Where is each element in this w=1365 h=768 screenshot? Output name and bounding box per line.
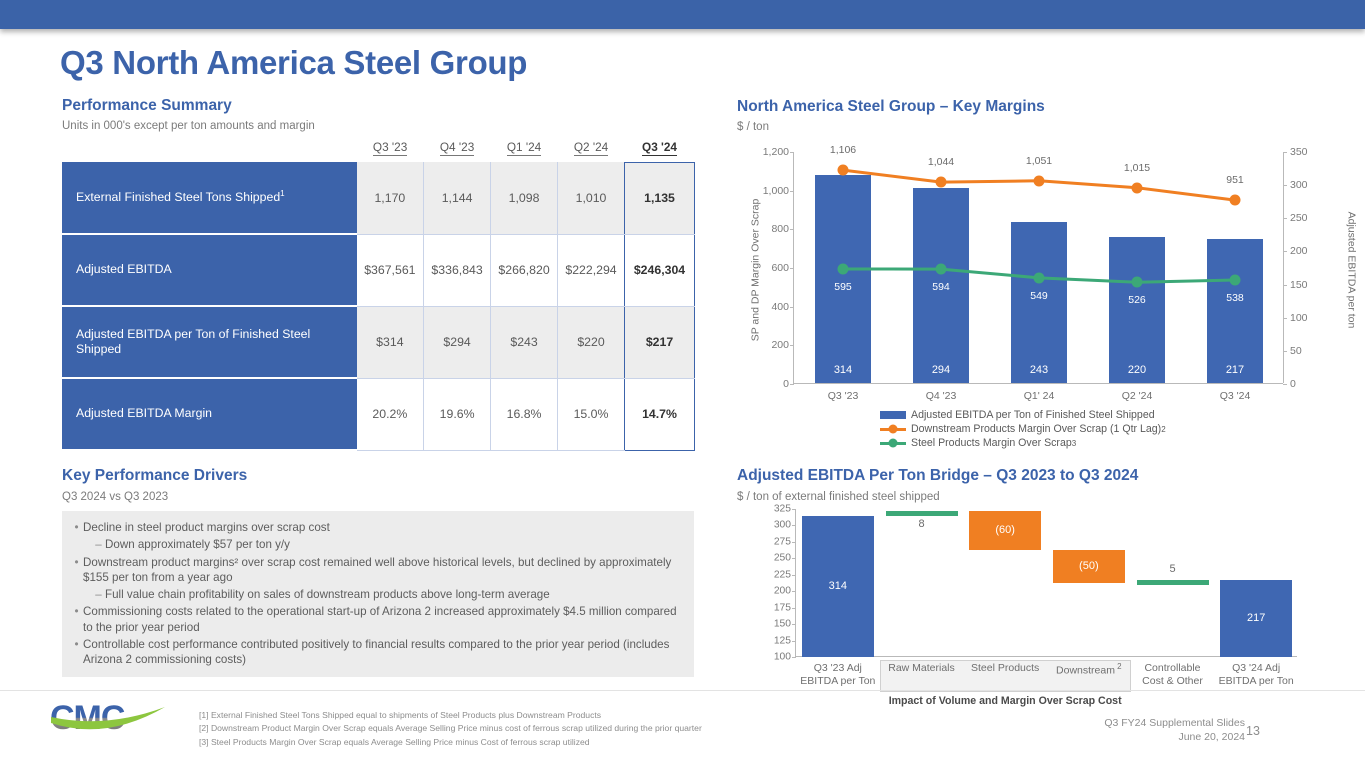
- table-cell: 16.8%: [491, 378, 558, 450]
- bullet-item: –Full value chain profitability on sales…: [70, 587, 682, 602]
- dash-marker-icon: –: [92, 537, 105, 552]
- legend-label: Steel Products Margin Over Scrap: [911, 437, 1072, 449]
- tick-mark: [792, 558, 796, 559]
- y-axis-tick-right: 50: [1290, 345, 1302, 357]
- bullet-item: •Downstream product margins² over scrap …: [70, 555, 682, 586]
- column-header-2: Q4 '23: [424, 138, 491, 162]
- key-performance-drivers-list: •Decline in steel product margins over s…: [62, 511, 694, 677]
- bullet-text: Full value chain profitability on sales …: [105, 587, 550, 602]
- table-cell: $217: [625, 306, 695, 378]
- category-line-2: Cost & Other: [1142, 675, 1203, 688]
- data-point-label: 1,044: [928, 156, 954, 168]
- footnotes: [1] External Finished Steel Tons Shipped…: [199, 709, 702, 749]
- x-axis-category-label: Raw Materials: [888, 662, 955, 675]
- footer-info: Q3 FY24 Supplemental Slides June 20, 202…: [1035, 716, 1245, 744]
- table-cell: $246,304: [625, 234, 695, 306]
- y-axis-tick-right: 100: [1290, 312, 1308, 324]
- data-point-label: 951: [1226, 174, 1244, 186]
- table-cell: $243: [491, 306, 558, 378]
- x-axis-category-label: ControllableCost & Other: [1142, 662, 1203, 688]
- data-point-marker: [838, 165, 849, 176]
- x-axis-category-label: Q3 '24: [1220, 390, 1251, 402]
- y-axis-tick: 150: [774, 619, 791, 630]
- data-point-label: 526: [1128, 294, 1146, 306]
- bullet-marker-icon: •: [70, 637, 83, 668]
- waterfall-value-label: 217: [1211, 612, 1301, 624]
- data-point-label: 1,106: [830, 144, 856, 156]
- footer-date: June 20, 2024: [1035, 730, 1245, 744]
- key-performance-drivers-subheading: Q3 2024 vs Q3 2023: [62, 491, 168, 503]
- key-margins-y-axis-label-right: Adjusted EBITDA per ton: [1344, 152, 1358, 387]
- column-header-4: Q2 '24: [558, 138, 625, 162]
- page-number: 13: [1246, 724, 1260, 738]
- category-line-1: Q3 '23 Adj: [800, 662, 875, 675]
- bridge-plot-area: 100125150175200225250275300325314Q3 '23 …: [795, 509, 1297, 657]
- table-cell: 1,170: [357, 162, 424, 234]
- bullet-text: Decline in steel product margins over sc…: [83, 520, 330, 535]
- waterfall-value-label: 8: [877, 518, 967, 530]
- legend-line-icon: [880, 438, 906, 449]
- category-line-1: Controllable: [1142, 662, 1203, 675]
- bullet-item: •Commissioning costs related to the oper…: [70, 604, 682, 635]
- footnote-line: [1] External Finished Steel Tons Shipped…: [199, 709, 702, 722]
- table-cell: 19.6%: [424, 378, 491, 450]
- data-point-marker: [1230, 274, 1241, 285]
- category-line-1: Downstream 2: [1056, 662, 1122, 678]
- legend-item: Downstream Products Margin Over Scrap (1…: [880, 423, 1166, 435]
- column-header-3: Q1 '24: [491, 138, 558, 162]
- data-point-marker: [1230, 195, 1241, 206]
- line-series-layer: [794, 152, 1284, 384]
- footnote-marker: 2: [1115, 662, 1122, 671]
- bullet-marker-icon: •: [70, 520, 83, 535]
- table-cell: 1,098: [491, 162, 558, 234]
- legend-swatch-icon: [880, 411, 906, 419]
- data-point-label: 1,015: [1124, 162, 1150, 174]
- legend-label: Downstream Products Margin Over Scrap (1…: [911, 423, 1161, 435]
- tick-mark: [792, 525, 796, 526]
- waterfall-value-label: (60): [960, 524, 1050, 536]
- key-margins-subtitle: $ / ton: [737, 121, 769, 133]
- tick-mark: [792, 542, 796, 543]
- table-cell: 15.0%: [558, 378, 625, 450]
- key-performance-drivers-heading: Key Performance Drivers: [62, 467, 247, 485]
- data-point-marker: [936, 177, 947, 188]
- performance-summary-subheading: Units in 000's except per ton amounts an…: [62, 120, 315, 132]
- y-axis-tick: 125: [774, 635, 791, 646]
- tick-mark: [792, 657, 796, 658]
- bullet-marker-icon: •: [70, 555, 83, 586]
- data-point-label: 594: [932, 281, 950, 293]
- y-axis-tick-right: 150: [1290, 279, 1308, 291]
- tick-mark: [792, 608, 796, 609]
- table-cell: 1,010: [558, 162, 625, 234]
- footnote-marker: 2: [1161, 425, 1165, 434]
- tick-mark: [792, 641, 796, 642]
- tick-mark: [792, 624, 796, 625]
- table-corner-cell: [62, 138, 357, 162]
- column-header-1: Q3 '23: [357, 138, 424, 162]
- x-axis-category-label: Q4 '23: [926, 390, 957, 402]
- table-cell: $294: [424, 306, 491, 378]
- y-axis-tick: 250: [774, 553, 791, 564]
- data-point-label: 595: [834, 281, 852, 293]
- row-label: Adjusted EBITDA: [62, 234, 357, 306]
- bullet-item: –Down approximately $57 per ton y/y: [70, 537, 682, 552]
- waterfall-value-label: 314: [793, 580, 883, 592]
- legend-item: Adjusted EBITDA per Ton of Finished Stee…: [880, 409, 1166, 421]
- table-body: External Finished Steel Tons Shipped11,1…: [62, 162, 695, 450]
- data-point-marker: [1034, 272, 1045, 283]
- top-banner: [0, 0, 1365, 29]
- key-margins-y-axis-label-left: SP and DP Margin Over Scrap: [748, 152, 762, 387]
- y-axis-tick-right: 0: [1290, 378, 1296, 390]
- category-line-1: Raw Materials: [888, 662, 955, 675]
- slide-root: Q3 North America Steel Group Performance…: [0, 0, 1365, 768]
- x-axis-category-label: Steel Products: [971, 662, 1039, 675]
- table-cell: $222,294: [558, 234, 625, 306]
- tick-mark: [792, 575, 796, 576]
- data-point-marker: [1132, 277, 1143, 288]
- x-axis-category-label: Q2 '24: [1122, 390, 1153, 402]
- table-row: Adjusted EBITDA Margin20.2%19.6%16.8%15.…: [62, 378, 695, 450]
- table-row: External Finished Steel Tons Shipped11,1…: [62, 162, 695, 234]
- waterfall-value-label: 5: [1128, 563, 1218, 575]
- x-axis-category-label: Q1' 24: [1024, 390, 1055, 402]
- bullet-item: •Controllable cost performance contribut…: [70, 637, 682, 668]
- table-cell: 20.2%: [357, 378, 424, 450]
- table-cell: 1,135: [625, 162, 695, 234]
- footnote-line: [3] Steel Products Margin Over Scrap equ…: [199, 736, 702, 749]
- y-axis-tick-left: 0: [783, 378, 789, 390]
- bridge-title: Adjusted EBITDA Per Ton Bridge – Q3 2023…: [737, 467, 1138, 485]
- svg-text:CMC: CMC: [50, 699, 125, 737]
- table-row: Adjusted EBITDA$367,561$336,843$266,820$…: [62, 234, 695, 306]
- page-title: Q3 North America Steel Group: [60, 44, 527, 82]
- category-line-1: Q3 '24 Adj: [1219, 662, 1294, 675]
- y-axis-tick-right: 200: [1290, 245, 1308, 257]
- footnote-marker: 1: [280, 189, 284, 198]
- bullet-text: Down approximately $57 per ton y/y: [105, 537, 290, 552]
- y-axis-tick-right: 300: [1290, 179, 1308, 191]
- bridge-subtitle: $ / ton of external finished steel shipp…: [737, 491, 940, 503]
- table-cell: $220: [558, 306, 625, 378]
- table-cell: 1,144: [424, 162, 491, 234]
- legend-item: Steel Products Margin Over Scrap 3: [880, 437, 1166, 449]
- data-point-label: 538: [1226, 292, 1244, 304]
- table-cell: $336,843: [424, 234, 491, 306]
- footnote-line: [2] Downstream Product Margin Over Scrap…: [199, 722, 702, 735]
- key-margins-legend: Adjusted EBITDA per Ton of Finished Stee…: [880, 409, 1166, 451]
- table-cell: 14.7%: [625, 378, 695, 450]
- waterfall-bar: [1137, 580, 1209, 585]
- bullet-marker-icon: •: [70, 604, 83, 635]
- data-point-marker: [1034, 175, 1045, 186]
- y-axis-tick: 300: [774, 520, 791, 531]
- footer-divider: [0, 690, 1365, 691]
- y-axis-tick-right: 250: [1290, 212, 1308, 224]
- category-line-2: EBITDA per Ton: [800, 675, 875, 688]
- legend-label: Adjusted EBITDA per Ton of Finished Stee…: [911, 409, 1155, 421]
- row-label: Adjusted EBITDA per Ton of Finished Stee…: [62, 306, 357, 378]
- row-label: Adjusted EBITDA Margin: [62, 378, 357, 450]
- bullet-text: Controllable cost performance contribute…: [83, 637, 682, 668]
- column-header-5: Q3 '24: [625, 138, 695, 162]
- y-axis-tick: 275: [774, 536, 791, 547]
- table-row: Adjusted EBITDA per Ton of Finished Stee…: [62, 306, 695, 378]
- tick-mark: [1283, 384, 1287, 385]
- tick-mark: [790, 384, 794, 385]
- x-axis-category-label: Q3 '23 AdjEBITDA per Ton: [800, 662, 875, 688]
- key-margins-title: North America Steel Group – Key Margins: [737, 98, 1045, 116]
- y-axis-tick-left: 400: [771, 301, 789, 313]
- y-axis-tick-left: 600: [771, 262, 789, 274]
- table-cell: $367,561: [357, 234, 424, 306]
- table-cell: $314: [357, 306, 424, 378]
- data-point-marker: [1132, 182, 1143, 193]
- waterfall-value-label: (50): [1044, 560, 1134, 572]
- bullet-text: Downstream product margins² over scrap c…: [83, 555, 682, 586]
- x-axis-category-label: Downstream 2: [1056, 662, 1122, 678]
- y-axis-tick-right: 350: [1290, 146, 1308, 158]
- y-axis-tick: 100: [774, 652, 791, 663]
- data-point-label: 1,051: [1026, 155, 1052, 167]
- table-header-row: Q3 '23Q4 '23Q1 '24Q2 '24Q3 '24: [62, 138, 695, 162]
- y-axis-tick: 175: [774, 602, 791, 613]
- y-axis-tick-left: 800: [771, 223, 789, 235]
- waterfall-bar: [886, 511, 958, 516]
- y-axis-tick: 200: [774, 586, 791, 597]
- y-axis-tick: 325: [774, 504, 791, 515]
- bridge-axis-group-label: Impact of Volume and Margin Over Scrap C…: [880, 695, 1131, 707]
- legend-line-icon: [880, 424, 906, 435]
- category-line-1: Steel Products: [971, 662, 1039, 675]
- table-cell: $266,820: [491, 234, 558, 306]
- footer-deck-name: Q3 FY24 Supplemental Slides: [1035, 716, 1245, 730]
- tick-mark: [792, 509, 796, 510]
- data-point-marker: [936, 264, 947, 275]
- y-axis-tick: 225: [774, 569, 791, 580]
- x-axis-category-label: Q3 '23: [828, 390, 859, 402]
- row-label: External Finished Steel Tons Shipped1: [62, 162, 357, 234]
- dash-marker-icon: –: [92, 587, 105, 602]
- y-axis-tick-left: 1,000: [763, 185, 789, 197]
- performance-summary-heading: Performance Summary: [62, 97, 232, 115]
- y-axis-tick-left: 200: [771, 339, 789, 351]
- data-point-marker: [838, 263, 849, 274]
- bullet-text: Commissioning costs related to the opera…: [83, 604, 682, 635]
- bullet-item: •Decline in steel product margins over s…: [70, 520, 682, 535]
- x-axis-category-label: Q3 '24 AdjEBITDA per Ton: [1219, 662, 1294, 688]
- key-margins-plot-area: 02004006008001,0001,20005010015020025030…: [793, 152, 1283, 384]
- cmc-logo: CMC: [48, 695, 168, 741]
- data-point-label: 549: [1030, 290, 1048, 302]
- category-line-2: EBITDA per Ton: [1219, 675, 1294, 688]
- performance-summary-table: Q3 '23Q4 '23Q1 '24Q2 '24Q3 '24 External …: [62, 138, 695, 451]
- y-axis-tick-left: 1,200: [763, 146, 789, 158]
- footnote-marker: 3: [1072, 439, 1076, 448]
